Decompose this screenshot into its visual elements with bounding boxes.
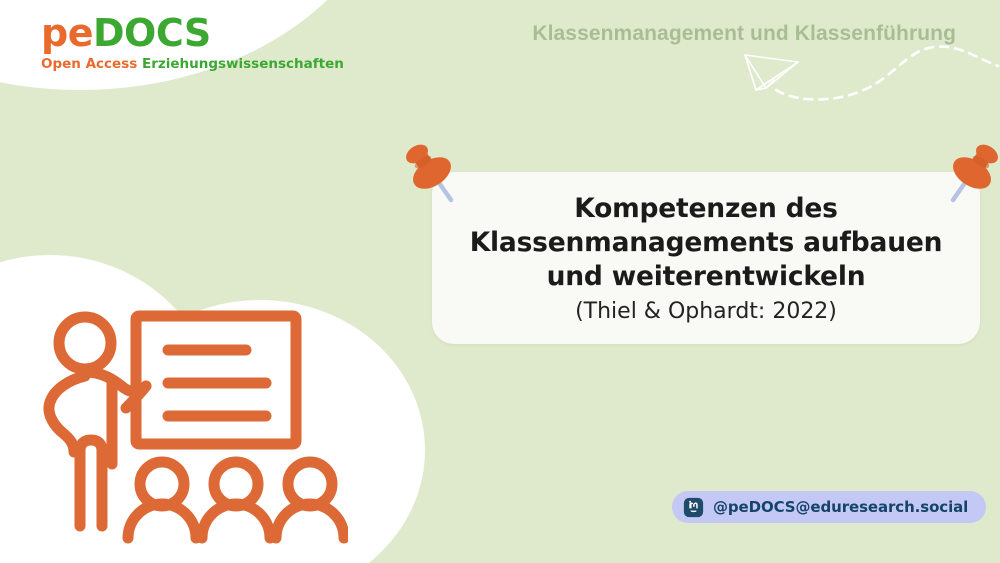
paper-plane-decoration — [690, 40, 1000, 110]
paper-plane-icon — [690, 40, 1000, 110]
mastodon-icon — [683, 497, 704, 518]
teacher-and-students-icon — [28, 298, 348, 548]
mastodon-handle-text: @peDOCS@eduresearch.social — [713, 498, 968, 516]
mastodon-handle-badge[interactable]: @peDOCS@eduresearch.social — [672, 491, 986, 523]
card-title-line-2: Klassenmanagements aufbauen — [470, 226, 943, 260]
classroom-illustration — [28, 298, 348, 548]
logo-tagline: Open Access Erziehungswissenschaften — [41, 58, 344, 72]
card-citation: (Thiel & Ophardt: 2022) — [575, 299, 837, 324]
background-blob-bottom-left-2 — [95, 300, 425, 563]
pedocs-logo: peDOCS Open Access Erziehungswissenschaf… — [41, 14, 344, 72]
background-blob-bottom-left-1 — [0, 255, 220, 563]
title-card: Kompetenzen des Klassenmanagements aufba… — [432, 172, 980, 344]
slide-kicker: Klassenmanagement und Klassenführung — [532, 22, 956, 46]
logo-wordmark-pe: pe — [41, 11, 93, 55]
slide-canvas: peDOCS Open Access Erziehungswissenschaf… — [0, 0, 1000, 563]
background-blob-bottom-left-3 — [0, 370, 400, 563]
card-title-line-1: Kompetenzen des — [574, 192, 838, 226]
card-title-line-3: und weiterentwickeln — [547, 260, 866, 294]
logo-tagline-erziehungswissenschaften: Erziehungswissenschaften — [142, 56, 344, 72]
logo-wordmark-docs: DOCS — [93, 11, 211, 55]
logo-wordmark: peDOCS — [41, 14, 344, 52]
logo-tagline-open-access: Open Access — [41, 56, 142, 72]
